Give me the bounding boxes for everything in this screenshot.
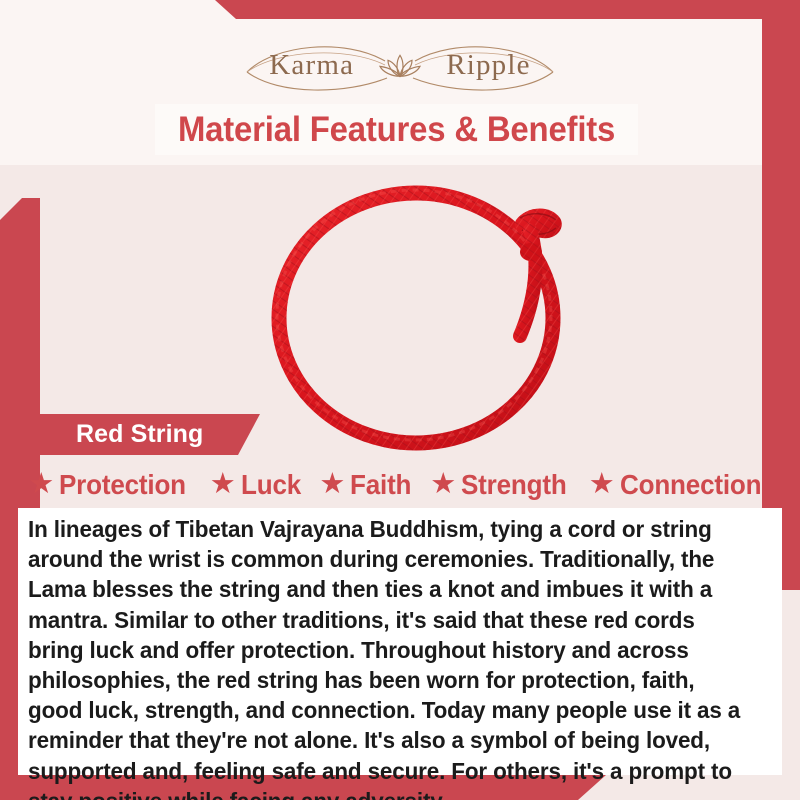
product-image	[248, 168, 600, 458]
brand-logo: Karma Ripple	[0, 34, 800, 96]
benefit-label: Strength	[461, 469, 567, 501]
benefit-label: Faith	[350, 469, 411, 501]
star-icon: ★	[319, 470, 345, 499]
star-icon: ★	[28, 470, 54, 499]
infographic-page: Karma Ripple Material Features & Benefit…	[0, 0, 800, 800]
benefit-label: Protection	[59, 469, 186, 501]
star-icon: ★	[210, 470, 236, 499]
description-panel: In lineages of Tibetan Vajrayana Buddhis…	[18, 508, 782, 775]
benefit-label: Luck	[241, 469, 301, 501]
benefit-item: ★ Connection	[589, 469, 772, 501]
benefit-label: Connection	[620, 469, 761, 501]
benefit-item: ★ Strength	[430, 469, 575, 501]
brand-name-right: Ripple	[446, 51, 531, 80]
star-icon: ★	[430, 470, 456, 499]
benefit-item: ★ Protection	[28, 469, 195, 501]
brand-name-left: Karma	[269, 51, 354, 80]
material-name: Red String	[76, 420, 203, 449]
description-text: In lineages of Tibetan Vajrayana Buddhis…	[28, 514, 742, 800]
red-string-bracelet-illustration	[248, 168, 600, 458]
benefit-item: ★ Faith	[319, 469, 416, 501]
decor-band-top	[0, 0, 800, 19]
page-title: Material Features & Benefits	[178, 110, 615, 150]
benefit-item: ★ Luck	[210, 469, 306, 501]
material-ribbon: Red String	[20, 414, 260, 455]
benefits-row: ★ Protection ★ Luck ★ Faith ★ Strength ★…	[18, 462, 782, 508]
lotus-icon	[376, 47, 424, 81]
logo-flourish-icon	[235, 34, 565, 96]
star-icon: ★	[589, 470, 615, 499]
page-title-band: Material Features & Benefits	[155, 104, 638, 155]
